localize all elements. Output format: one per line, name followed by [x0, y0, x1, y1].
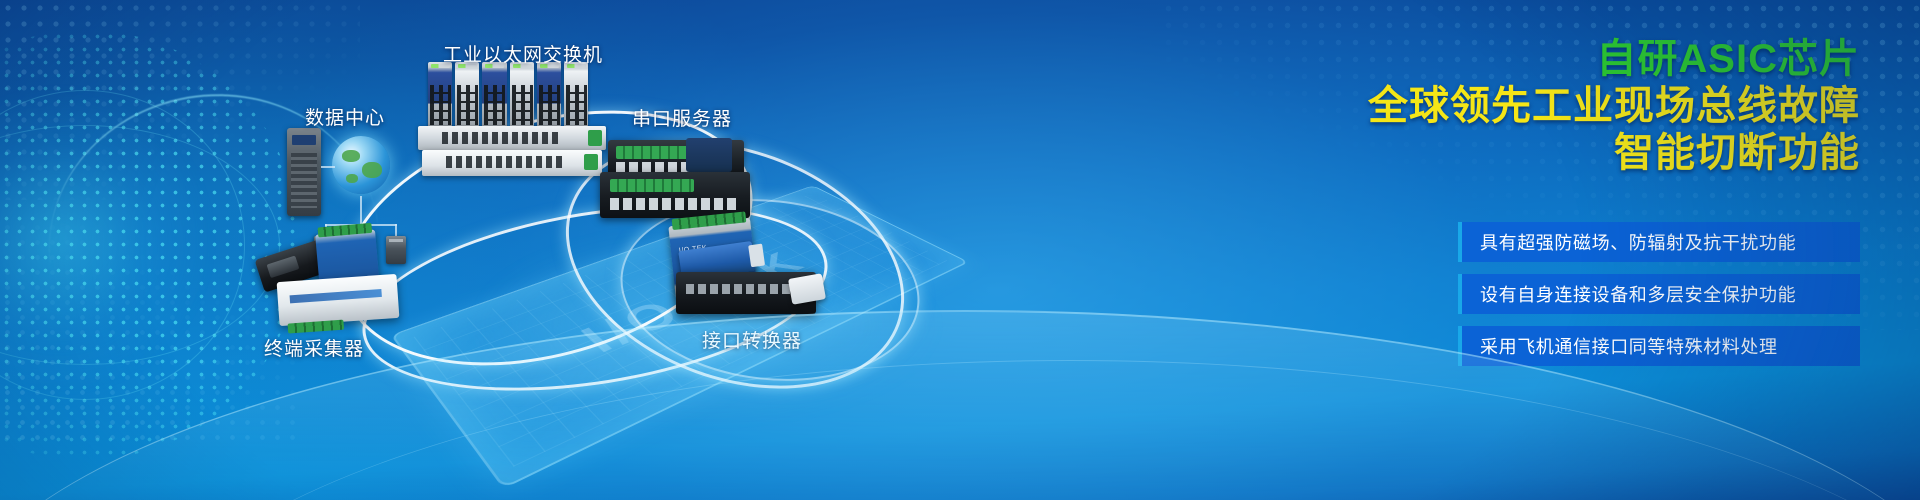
serial-server-side-unit	[686, 138, 732, 172]
serial-server-lower	[600, 172, 750, 218]
link-line	[360, 196, 362, 224]
label-ethernet-switch: 工业以太网交换机	[443, 40, 603, 67]
feature-bullet-list: 具有超强防磁场、防辐射及抗干扰功能 设有自身连接设备和多层安全保护功能 采用飞机…	[1458, 222, 1860, 378]
rack-chassis-upper	[418, 126, 606, 150]
feature-bullet-1: 具有超强防磁场、防辐射及抗干扰功能	[1458, 222, 1860, 262]
headline-line-2: 全球领先工业现场总线故障	[1300, 83, 1860, 130]
label-serial-server: 串口服务器	[632, 104, 732, 131]
server-cabinet	[287, 128, 321, 216]
switch-module	[455, 62, 479, 128]
switch-module	[482, 62, 506, 128]
label-data-center: 数据中心	[305, 103, 385, 130]
switch-module	[537, 62, 561, 128]
ethernet-switch-stack	[428, 62, 588, 128]
rack-chassis-lower	[422, 150, 602, 176]
feature-bullet-1-text: 具有超强防磁场、防辐射及抗干扰功能	[1480, 229, 1796, 255]
feature-bullet-3-text: 采用飞机通信接口同等特殊材料处理	[1480, 333, 1778, 359]
switch-module	[428, 62, 452, 128]
terminal-collector-box	[277, 274, 400, 326]
feature-bullet-3: 采用飞机通信接口同等特殊材料处理	[1458, 326, 1860, 366]
link-line	[321, 166, 335, 168]
world-globe-icon	[332, 136, 390, 194]
headline-line-3: 智能切断功能	[1300, 130, 1860, 177]
switch-module	[564, 62, 588, 128]
label-terminal-collector: 终端采集器	[264, 334, 364, 361]
headline-block: 自研ASIC芯片 全球领先工业现场总线故障 智能切断功能	[1300, 36, 1860, 178]
switch-module	[510, 62, 534, 128]
promo-banner: I/O TEK	[0, 0, 1920, 500]
feature-bullet-2: 设有自身连接设备和多层安全保护功能	[1458, 274, 1860, 314]
headline-line-1: 自研ASIC芯片	[1300, 36, 1860, 83]
feature-bullet-2-text: 设有自身连接设备和多层安全保护功能	[1480, 281, 1796, 307]
server-unit	[386, 236, 406, 264]
link-line	[395, 224, 397, 236]
